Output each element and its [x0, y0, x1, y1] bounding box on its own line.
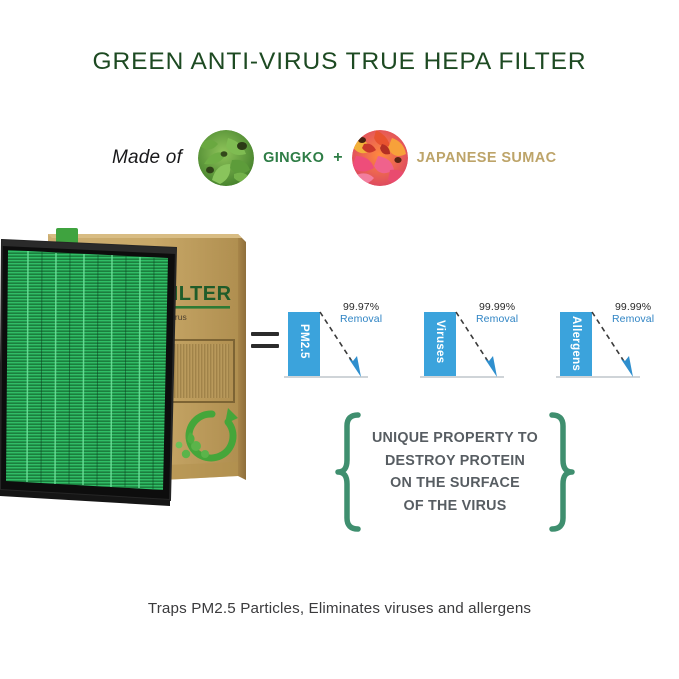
removal-annotation-pm25: 99.97% Removal [340, 302, 382, 326]
equals-bar-bottom [251, 344, 279, 348]
plus-sign: + [333, 149, 342, 167]
removal-percent-pm25: 99.97% [340, 302, 382, 314]
right-brace-icon [546, 410, 576, 534]
made-of-row: Made of [112, 128, 612, 188]
left-brace-icon [334, 410, 364, 534]
bar-label-pm25: PM2.5 [298, 324, 310, 359]
hepa-filter-and-box-photo: FILTER Anti-Virus [0, 218, 250, 508]
equals-sign [251, 325, 281, 357]
removal-chart-pm25: PM2.5 99.97% Removal [282, 298, 400, 384]
removal-charts-group: PM2.5 99.97% Removal Viruses 99.99% Remo… [282, 298, 672, 384]
page-title: GREEN ANTI-VIRUS TRUE HEPA FILTER [0, 48, 679, 76]
removal-word-viruses: Removal [476, 314, 518, 326]
callout-line-4: OF THE VIRUS [368, 495, 542, 518]
callout-line-2: DESTROY PROTEIN [368, 450, 542, 473]
removal-word-allergens: Removal [612, 314, 654, 326]
callout-text: UNIQUE PROPERTY TO DESTROY PROTEIN ON TH… [368, 427, 542, 517]
removal-percent-viruses: 99.99% [476, 302, 518, 314]
unique-property-callout: UNIQUE PROPERTY TO DESTROY PROTEIN ON TH… [330, 410, 580, 534]
callout-line-1: UNIQUE PROPERTY TO [368, 427, 542, 450]
made-of-label: Made of [112, 147, 182, 169]
removal-annotation-viruses: 99.99% Removal [476, 302, 518, 326]
removal-chart-viruses: Viruses 99.99% Removal [418, 298, 536, 384]
footer-caption: Traps PM2.5 Particles, Eliminates viruse… [0, 600, 679, 617]
equals-bar-top [251, 332, 279, 336]
removal-chart-allergens: Allergens 99.99% Removal [554, 298, 672, 384]
sumac-label: JAPANESE SUMAC [417, 150, 557, 166]
bar-label-viruses: Viruses [434, 320, 446, 363]
infographic-canvas: GREEN ANTI-VIRUS TRUE HEPA FILTER Made o… [0, 0, 679, 679]
removal-percent-allergens: 99.99% [612, 302, 654, 314]
callout-line-3: ON THE SURFACE [368, 472, 542, 495]
removal-word-pm25: Removal [340, 314, 382, 326]
japanese-sumac-photo-circle [352, 130, 408, 186]
removal-annotation-allergens: 99.99% Removal [612, 302, 654, 326]
gingko-label: GINGKO [263, 150, 324, 166]
bar-label-allergens: Allergens [570, 316, 582, 371]
gingko-leaf-photo-circle [198, 130, 254, 186]
